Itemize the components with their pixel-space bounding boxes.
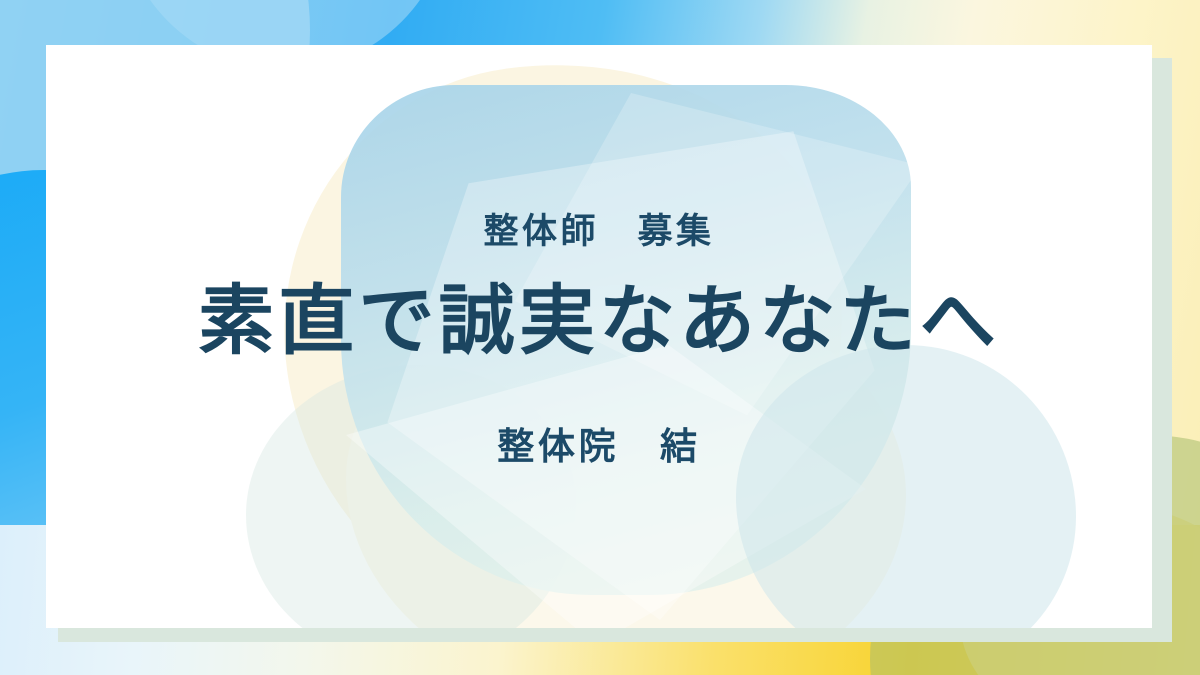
content-card: 整体師 募集 素直で誠実なあなたへ 整体院 結 [46, 45, 1152, 628]
slide-content: 整体師 募集 素直で誠実なあなたへ 整体院 結 [46, 45, 1152, 628]
organization-name: 整体院 結 [497, 416, 701, 470]
eyebrow-text: 整体師 募集 [483, 203, 714, 254]
slide-canvas: 整体師 募集 素直で誠実なあなたへ 整体院 結 [0, 0, 1200, 675]
page-title: 素直で誠実なあなたへ [198, 280, 1000, 364]
